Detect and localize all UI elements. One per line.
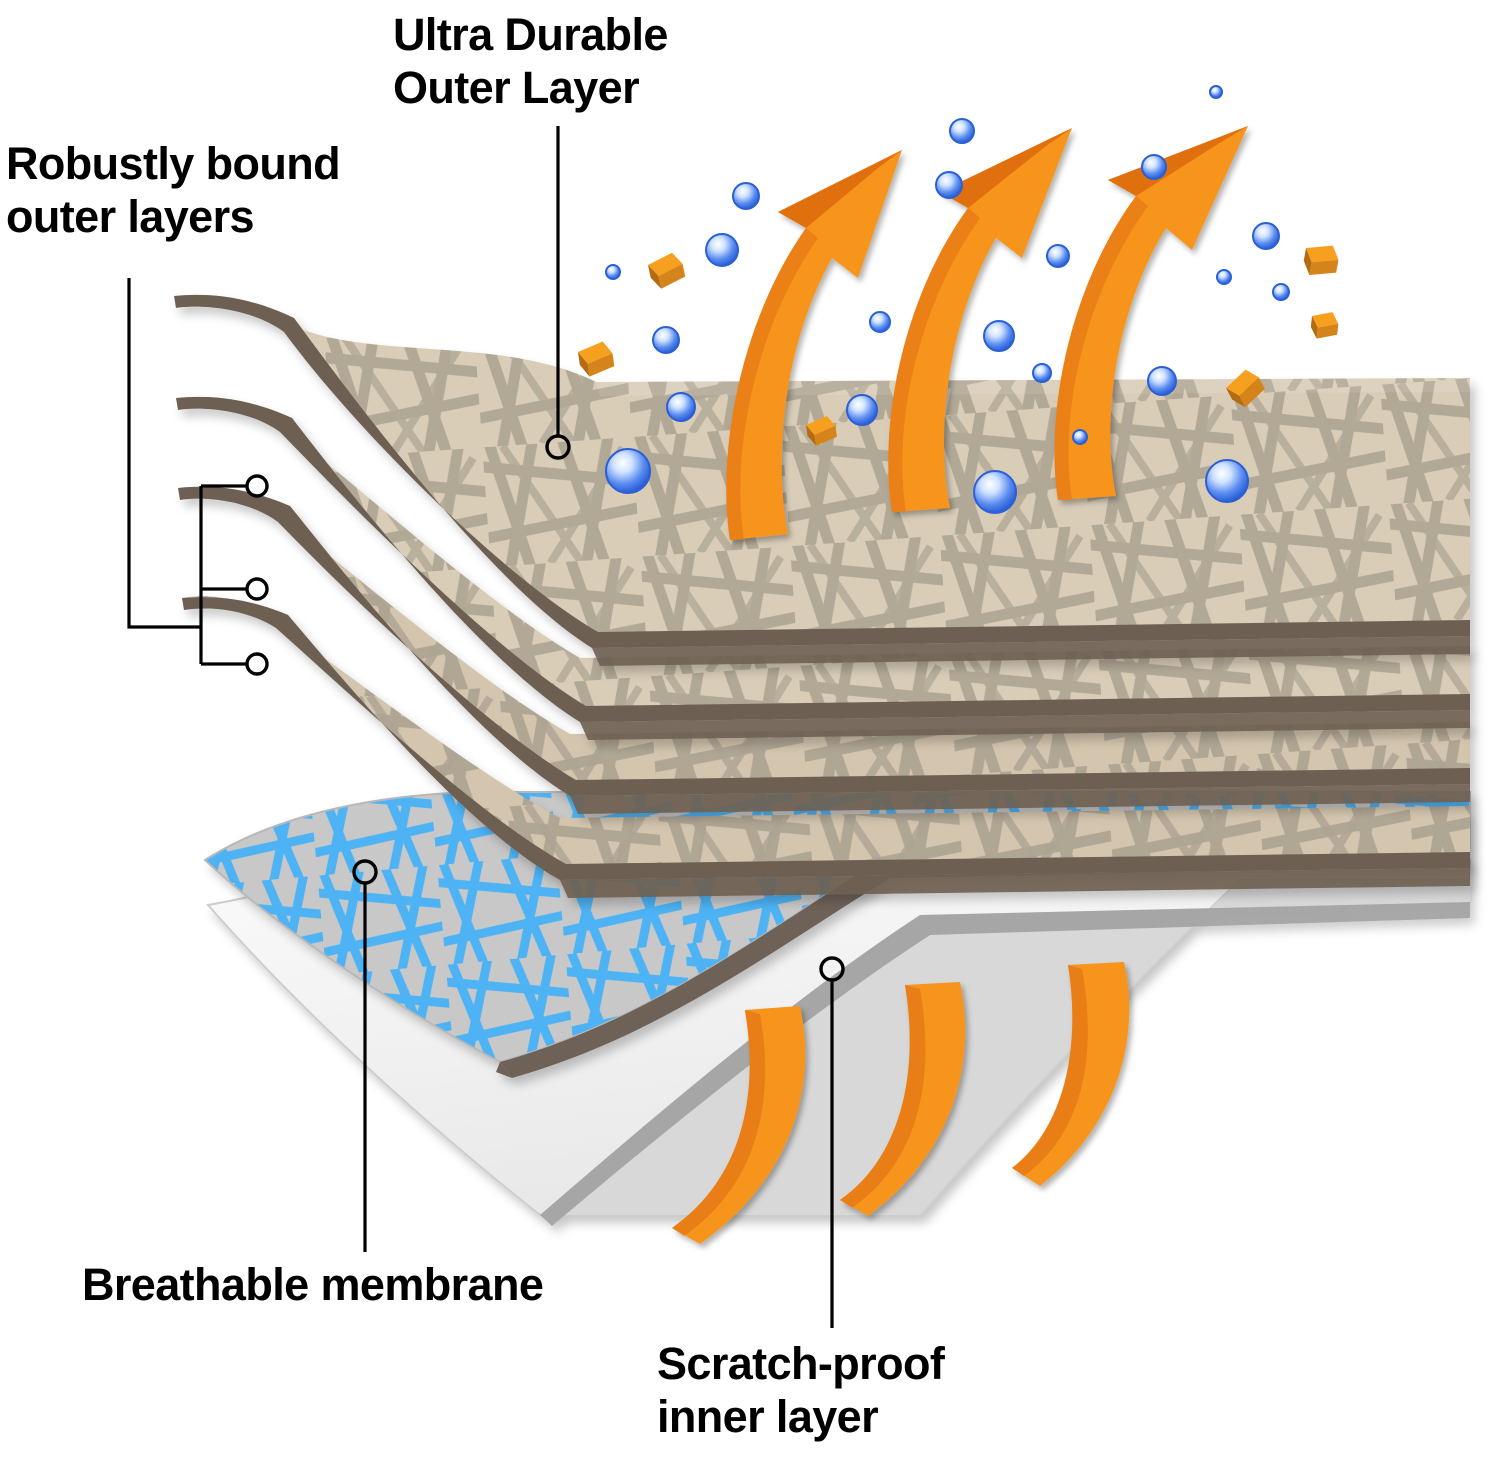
callout-bound-2 bbox=[247, 579, 267, 599]
callout-bound-1 bbox=[247, 476, 267, 496]
callout-outer-layer bbox=[547, 436, 569, 458]
cube-1 bbox=[647, 251, 687, 290]
leader-bound-layers bbox=[129, 278, 201, 627]
cube-3 bbox=[1301, 241, 1340, 279]
label-scratch-proof-inner-layer: Scratch-proof inner layer bbox=[657, 1337, 944, 1443]
cube-4 bbox=[1310, 310, 1340, 341]
callout-inner-layer bbox=[821, 958, 843, 980]
callout-bound-3 bbox=[247, 654, 267, 674]
cube-2 bbox=[577, 340, 615, 377]
layered-fabric-diagram: Ultra Durable Outer Layer Robustly bound… bbox=[0, 0, 1499, 1463]
label-breathable-membrane: Breathable membrane bbox=[82, 1258, 543, 1311]
callout-membrane bbox=[354, 861, 376, 883]
label-ultra-durable-outer-layer: Ultra Durable Outer Layer bbox=[393, 8, 668, 114]
label-robustly-bound-outer-layers: Robustly bound outer layers bbox=[6, 137, 340, 243]
